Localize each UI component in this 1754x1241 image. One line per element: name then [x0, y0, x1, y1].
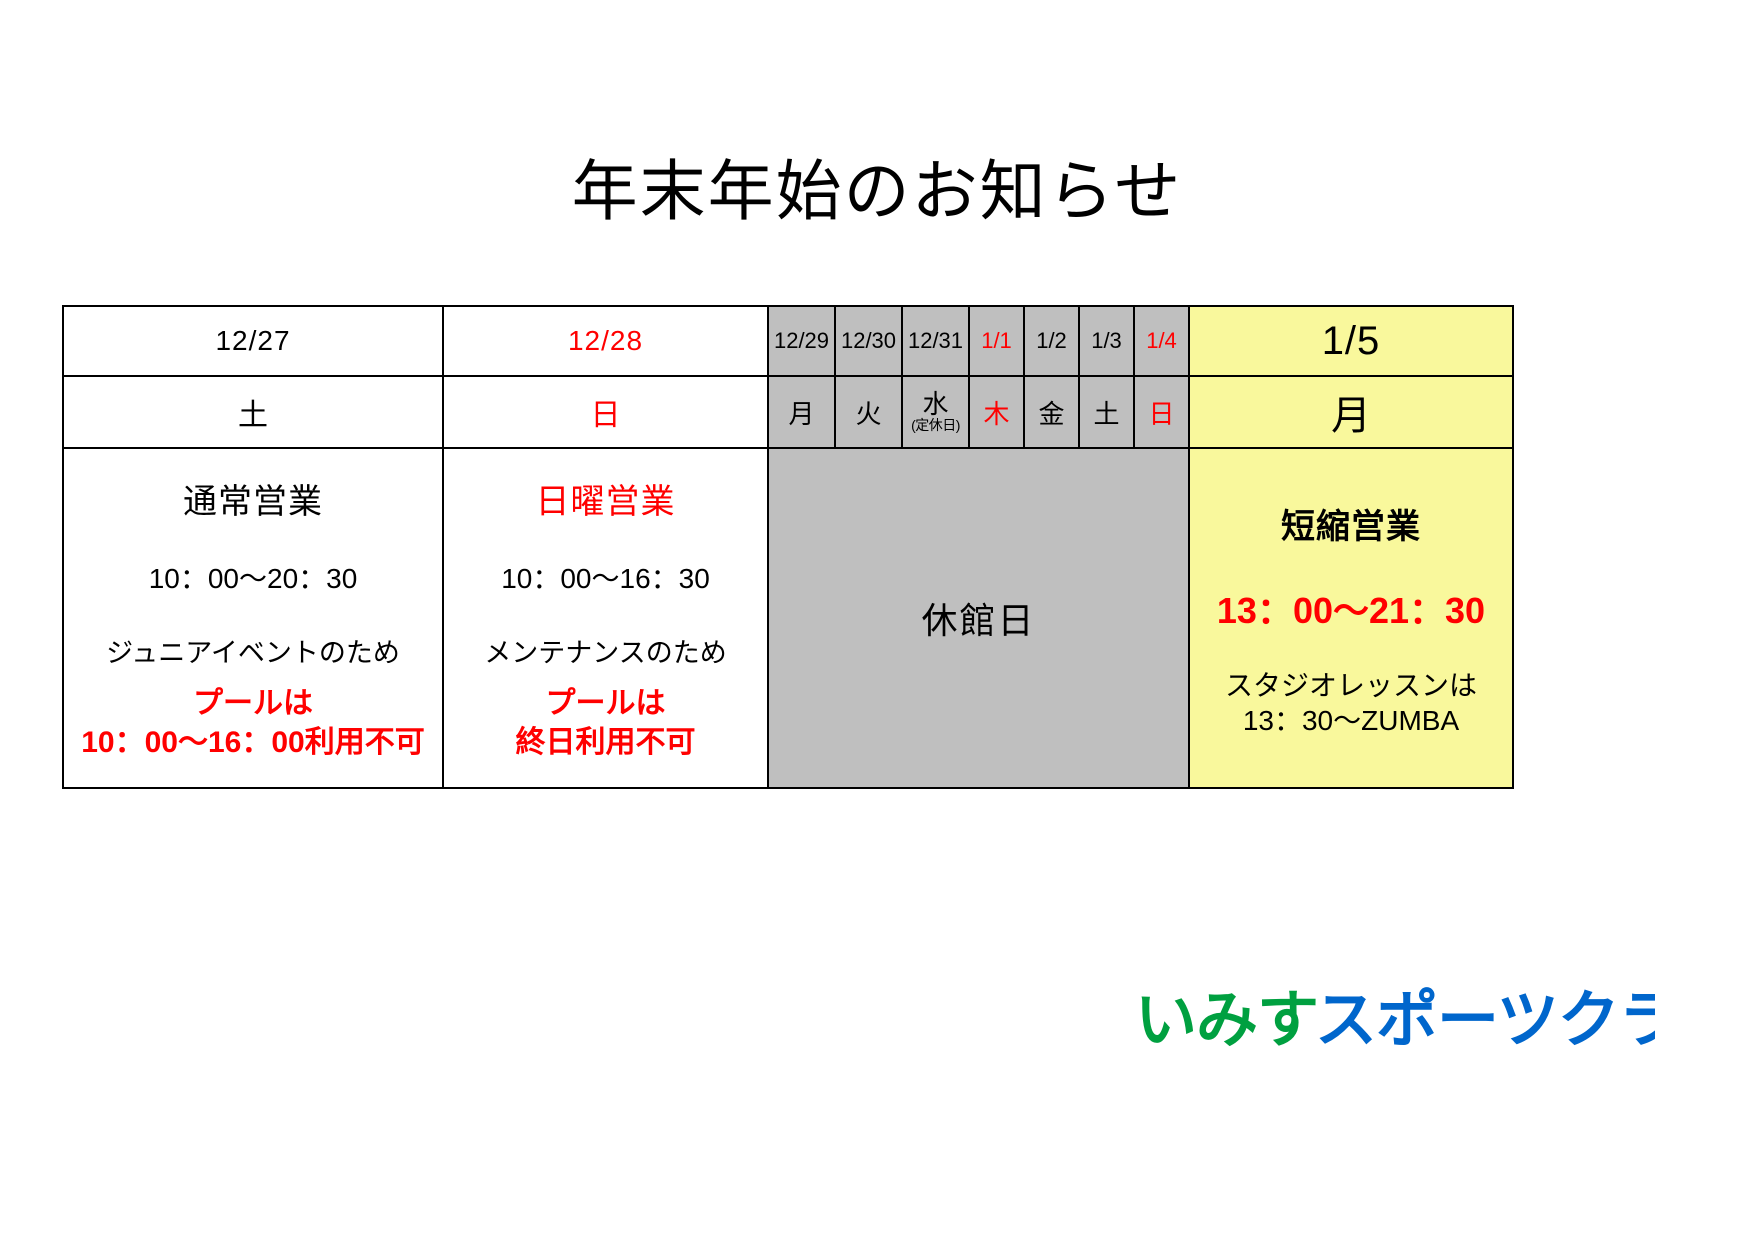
closed-label: 休館日: [921, 592, 1035, 644]
date-cell-1229: 12/29: [768, 306, 835, 376]
body-cell-closed: 休館日: [768, 448, 1189, 788]
pool-notice-line2: 10：00〜16：00利用不可: [81, 723, 424, 762]
date-label: 12/30: [841, 328, 896, 353]
pool-notice-line1: プールは: [546, 684, 666, 723]
date-cell-0101: 1/1: [969, 306, 1024, 376]
pool-notice-line1: プールは: [193, 684, 313, 723]
reason-text: ジュニアイベントのため: [106, 631, 400, 670]
date-cell-0104: 1/4: [1134, 306, 1189, 376]
body-cell-0105: 短縮営業 13：00〜21：30 スタジオレッスンは 13：30〜ZUMBA: [1189, 448, 1513, 788]
business-status: 短縮営業: [1281, 499, 1421, 548]
date-row: 12/27 12/28 12/29 12/30 12/31 1/1 1/2 1/…: [63, 306, 1513, 376]
date-label: 12/28: [568, 325, 643, 356]
date-cell-1228: 12/28: [443, 306, 768, 376]
weekday-label: 日: [1148, 399, 1174, 429]
studio-lesson-line1: スタジオレッスンは: [1225, 668, 1477, 703]
weekday-stack: 水 (定休日): [903, 391, 968, 433]
date-label: 12/31: [908, 328, 963, 353]
svg-text:いみす: いみす: [1135, 986, 1318, 1055]
date-cell-1230: 12/30: [835, 306, 902, 376]
body-content-1228: 日曜営業 10：00〜16：30 メンテナンスのため プールは 終日利用不可: [444, 449, 767, 787]
date-cell-0105: 1/5: [1189, 306, 1513, 376]
body-cell-1227: 通常営業 10：00〜20：30 ジュニアイベントのため プールは 10：00〜…: [63, 448, 443, 788]
weekday-cell-0104: 日: [1134, 376, 1189, 448]
weekday-label: 木: [983, 399, 1009, 429]
studio-lesson-line2: 13：30〜ZUMBA: [1243, 703, 1459, 738]
weekday-label: 月: [788, 399, 814, 429]
date-label: 1/3: [1091, 328, 1122, 353]
date-cell-1231: 12/31: [902, 306, 969, 376]
brand-logo-icon: いみす スポーツクラブ: [1135, 975, 1655, 1065]
date-label: 1/5: [1322, 319, 1381, 363]
weekday-cell-0103: 土: [1079, 376, 1134, 448]
body-content-1227: 通常営業 10：00〜20：30 ジュニアイベントのため プールは 10：00〜…: [64, 449, 442, 787]
schedule-table: 12/27 12/28 12/29 12/30 12/31 1/1 1/2 1/…: [62, 305, 1514, 789]
weekday-cell-1230: 火: [835, 376, 902, 448]
weekday-cell-1231: 水 (定休日): [902, 376, 969, 448]
date-label: 12/29: [774, 328, 829, 353]
weekday-label: 金: [1038, 399, 1064, 429]
weekday-row: 土 日 月 火 水 (定休日) 木 金 土 日 月: [63, 376, 1513, 448]
pool-notice-line2: 終日利用不可: [516, 723, 696, 762]
page-title: 年末年始のお知らせ: [0, 155, 1754, 228]
body-content-closed: 休館日: [769, 449, 1188, 787]
weekday-cell-0101: 木: [969, 376, 1024, 448]
date-cell-0103: 1/3: [1079, 306, 1134, 376]
weekday-label: 土: [238, 399, 268, 432]
date-label: 1/4: [1146, 328, 1177, 353]
weekday-label: 月: [1331, 394, 1371, 438]
weekday-label: 日: [591, 399, 621, 432]
brand-logo: いみす スポーツクラブ: [1135, 975, 1655, 1065]
weekday-cell-1228: 日: [443, 376, 768, 448]
weekday-cell-0102: 金: [1024, 376, 1079, 448]
date-cell-1227: 12/27: [63, 306, 443, 376]
business-status: 日曜営業: [536, 474, 676, 523]
weekday-label: 火: [855, 399, 881, 429]
date-label: 12/27: [215, 325, 290, 356]
weekday-cell-1227: 土: [63, 376, 443, 448]
business-hours: 13：00〜21：30: [1217, 582, 1485, 634]
svg-text:スポーツクラブ: スポーツクラブ: [1315, 985, 1655, 1055]
date-label: 1/1: [981, 328, 1012, 353]
body-cell-1228: 日曜営業 10：00〜16：30 メンテナンスのため プールは 終日利用不可: [443, 448, 768, 788]
business-status: 通常営業: [183, 474, 323, 523]
business-hours: 10：00〜16：30: [501, 557, 710, 597]
weekday-label: 土: [1093, 399, 1119, 429]
regular-holiday-note: (定休日): [911, 418, 960, 433]
date-cell-0102: 1/2: [1024, 306, 1079, 376]
date-label: 1/2: [1036, 328, 1067, 353]
business-hours: 10：00〜20：30: [149, 557, 358, 597]
weekday-cell-0105: 月: [1189, 376, 1513, 448]
weekday-label: 水: [922, 391, 948, 418]
weekday-cell-1229: 月: [768, 376, 835, 448]
body-content-0105: 短縮営業 13：00〜21：30 スタジオレッスンは 13：30〜ZUMBA: [1190, 449, 1512, 787]
reason-text: メンテナンスのため: [484, 631, 726, 670]
body-row: 通常営業 10：00〜20：30 ジュニアイベントのため プールは 10：00〜…: [63, 448, 1513, 788]
